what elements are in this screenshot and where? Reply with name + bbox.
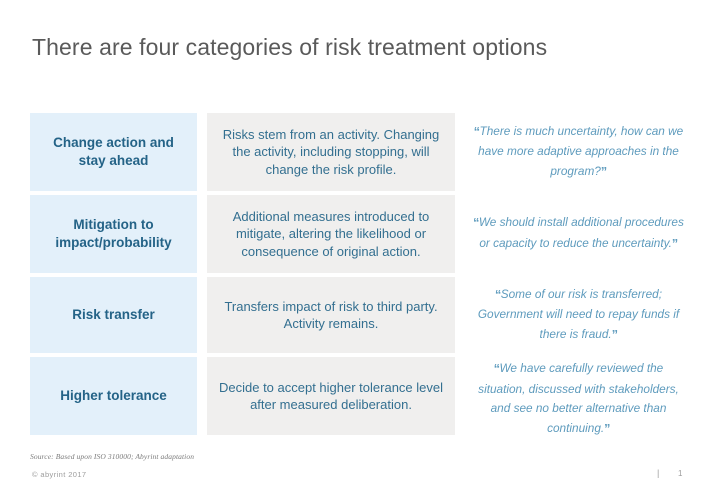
quote-cell-mitigation: “We should install additional procedures… bbox=[469, 195, 690, 273]
table-row: Risk transfer Transfers impact of risk t… bbox=[30, 277, 690, 353]
description-cell-mitigation: Additional measures introduced to mitiga… bbox=[207, 195, 455, 273]
quote-cell-risk-transfer: “Some of our risk is transferred; Govern… bbox=[469, 277, 690, 353]
table-row: Change action and stay ahead Risks stem … bbox=[30, 113, 690, 191]
category-cell-mitigation: Mitigation to impact/probability bbox=[30, 195, 197, 273]
quote-text: We have carefully reviewed the situation… bbox=[478, 361, 679, 435]
footer-separator: | bbox=[657, 468, 659, 478]
quote-text: We should install additional procedures … bbox=[479, 215, 684, 250]
category-cell-higher-tolerance: Higher tolerance bbox=[30, 357, 197, 435]
page-title: There are four categories of risk treatm… bbox=[32, 34, 547, 61]
description-cell-change-action: Risks stem from an activity. Changing th… bbox=[207, 113, 455, 191]
page-number: 1 bbox=[678, 469, 682, 478]
quote-close-mark: ” bbox=[672, 237, 678, 251]
quote-cell-change-action: “There is much uncertainty, how can we h… bbox=[469, 113, 690, 191]
copyright-notice: © abyrint 2017 bbox=[32, 470, 87, 479]
category-cell-risk-transfer: Risk transfer bbox=[30, 277, 197, 353]
description-cell-higher-tolerance: Decide to accept higher tolerance level … bbox=[207, 357, 455, 435]
quote-close-mark: ” bbox=[604, 422, 610, 436]
quote-close-mark: ” bbox=[612, 328, 618, 342]
category-cell-change-action: Change action and stay ahead bbox=[30, 113, 197, 191]
risk-treatment-matrix: Change action and stay ahead Risks stem … bbox=[30, 113, 690, 441]
quote-cell-higher-tolerance: “We have carefully reviewed the situatio… bbox=[469, 357, 690, 441]
quote-close-mark: ” bbox=[601, 165, 607, 179]
quote-text: Some of our risk is transferred; Governm… bbox=[478, 287, 679, 341]
source-note: Source: Based upon ISO 310000; Abyrint a… bbox=[30, 452, 194, 461]
table-row: Higher tolerance Decide to accept higher… bbox=[30, 357, 690, 441]
table-row: Mitigation to impact/probability Additio… bbox=[30, 195, 690, 273]
quote-text: There is much uncertainty, how can we ha… bbox=[478, 124, 683, 178]
description-cell-risk-transfer: Transfers impact of risk to third party.… bbox=[207, 277, 455, 353]
